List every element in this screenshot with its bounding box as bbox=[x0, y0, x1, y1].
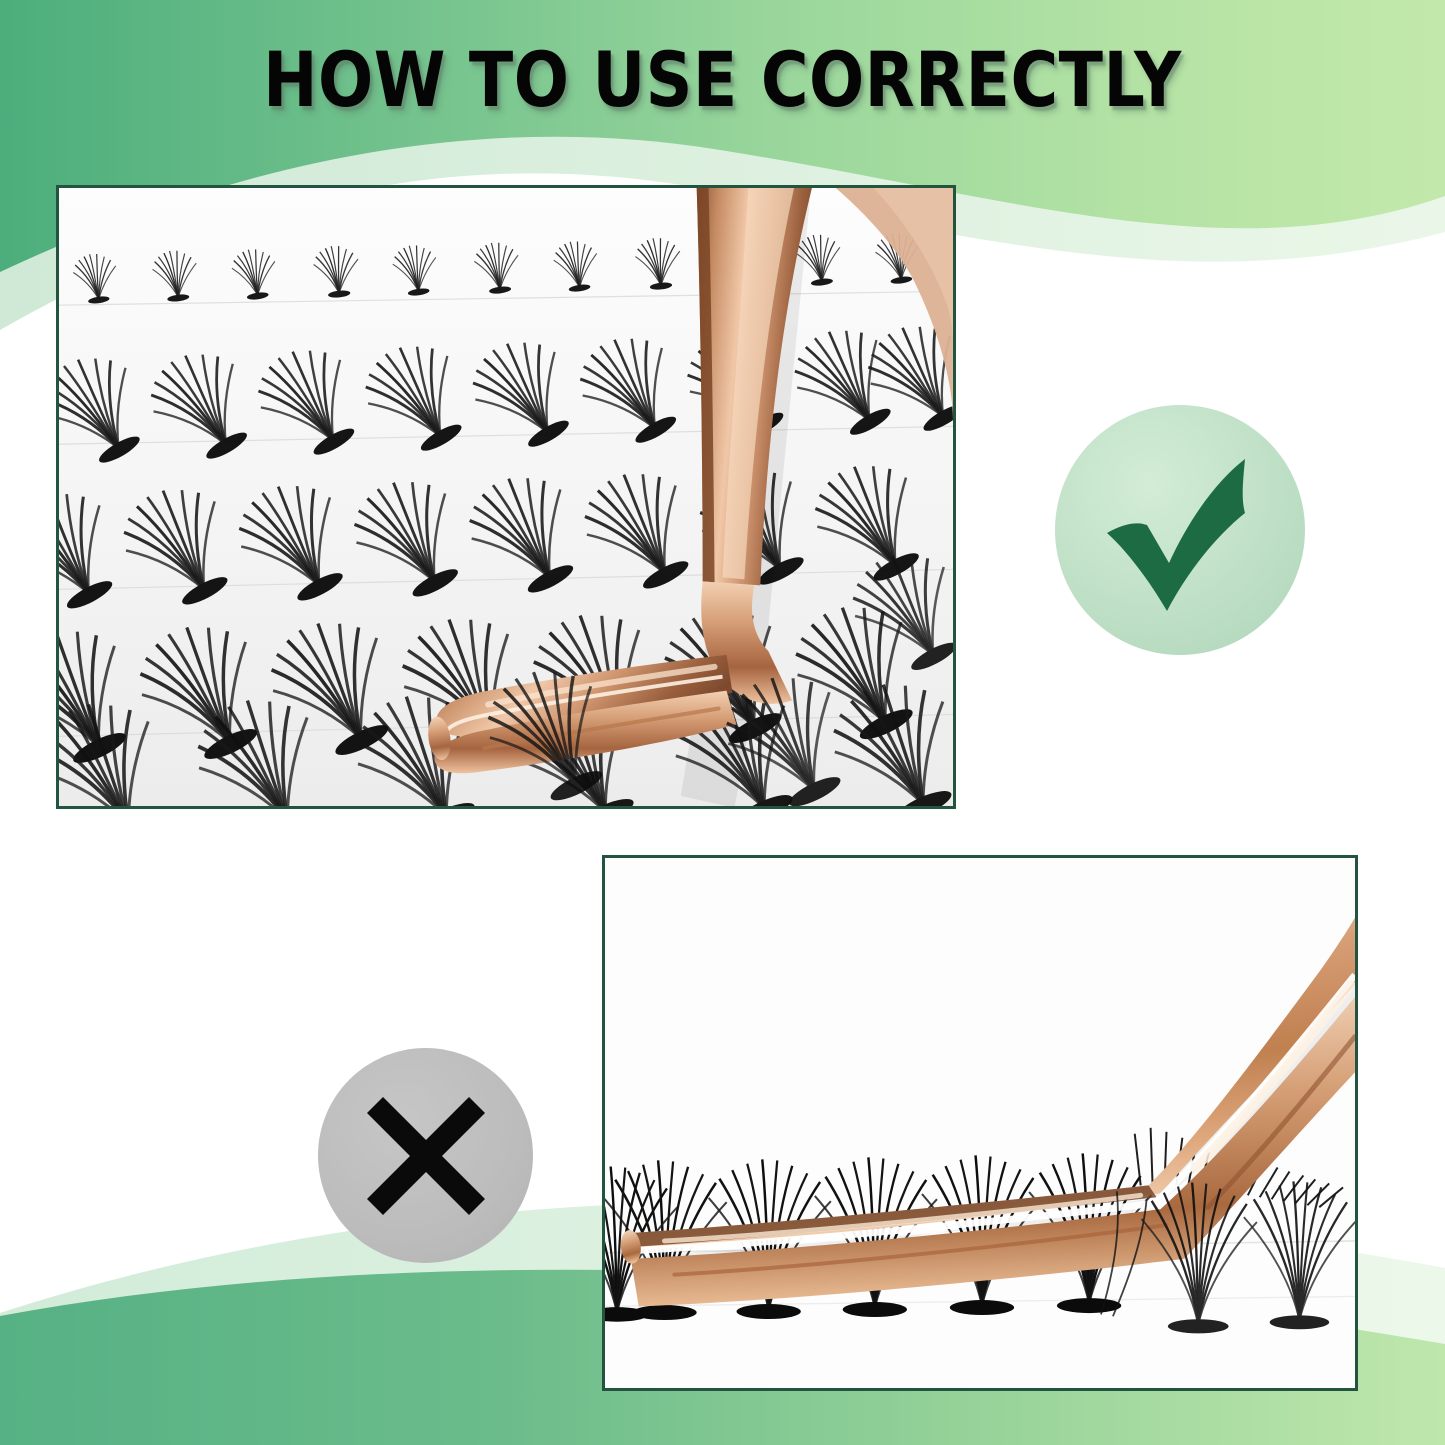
photo-incorrect-usage bbox=[602, 855, 1358, 1391]
photo-correct-illustration bbox=[59, 188, 953, 806]
status-badge-correct bbox=[1055, 405, 1305, 655]
page-title: HOW TO USE CORRECTLY bbox=[0, 42, 1445, 118]
photo-incorrect-illustration bbox=[605, 858, 1355, 1388]
photo-correct-inner bbox=[59, 188, 953, 806]
photo-incorrect-inner bbox=[605, 858, 1355, 1388]
page-title-text: HOW TO USE CORRECTLY bbox=[263, 42, 1181, 118]
check-icon bbox=[1095, 445, 1265, 615]
status-badge-incorrect bbox=[318, 1048, 533, 1263]
cross-icon bbox=[361, 1091, 491, 1221]
photo-correct-usage bbox=[56, 185, 956, 809]
infographic-page: HOW TO USE CORRECTLY bbox=[0, 0, 1445, 1445]
